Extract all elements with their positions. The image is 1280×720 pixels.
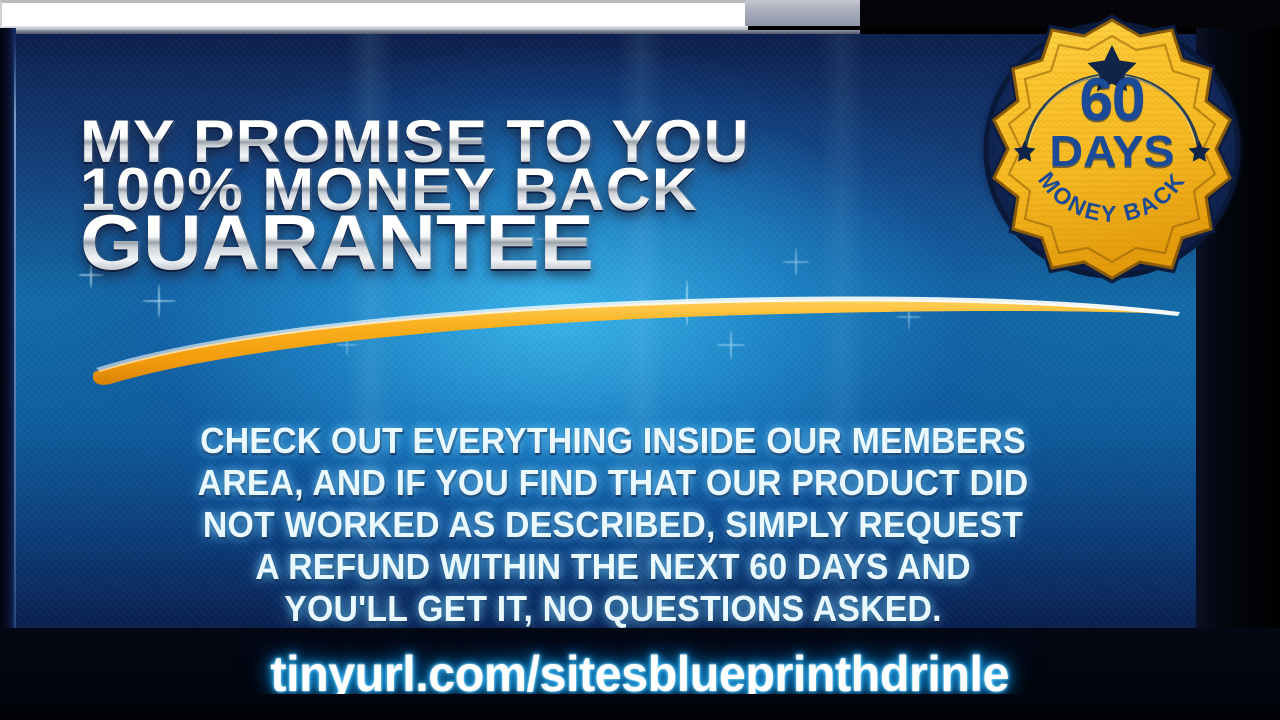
headline: MY PROMISE TO YOU 100% MONEY BACK GUARAN… — [80, 116, 980, 276]
headline-line-3: GUARANTEE — [80, 209, 1016, 276]
body-line: AREA, AND IF YOU FIND THAT OUR PRODUCT D… — [110, 462, 1116, 504]
browser-toolbar-band-inner — [745, 4, 860, 26]
frame-edge-bottom — [0, 694, 1280, 720]
sparkle-icon — [716, 330, 746, 360]
sparkle-icon — [896, 304, 922, 330]
money-back-guarantee-badge: MONEY BACK 60 DAYS — [962, 2, 1262, 292]
sparkle-icon — [336, 334, 358, 356]
badge-seal-shape: MONEY BACK — [962, 2, 1262, 292]
body-line: YOU'LL GET IT, NO QUESTIONS ASKED. — [110, 588, 1116, 630]
promo-slide: MY PROMISE TO YOU 100% MONEY BACK GUARAN… — [0, 0, 1280, 720]
sparkle-icon — [142, 284, 176, 318]
body-line: CHECK OUT EVERYTHING INSIDE OUR MEMBERS — [110, 420, 1116, 462]
orange-swoosh-divider — [80, 292, 1190, 392]
body-line: NOT WORKED AS DESCRIBED, SIMPLY REQUEST — [110, 504, 1116, 546]
sparkle-icon — [664, 280, 710, 326]
body-line: A REFUND WITHIN THE NEXT 60 DAYS AND — [110, 546, 1116, 588]
body-copy: CHECK OUT EVERYTHING INSIDE OUR MEMBERS … — [110, 420, 1116, 631]
